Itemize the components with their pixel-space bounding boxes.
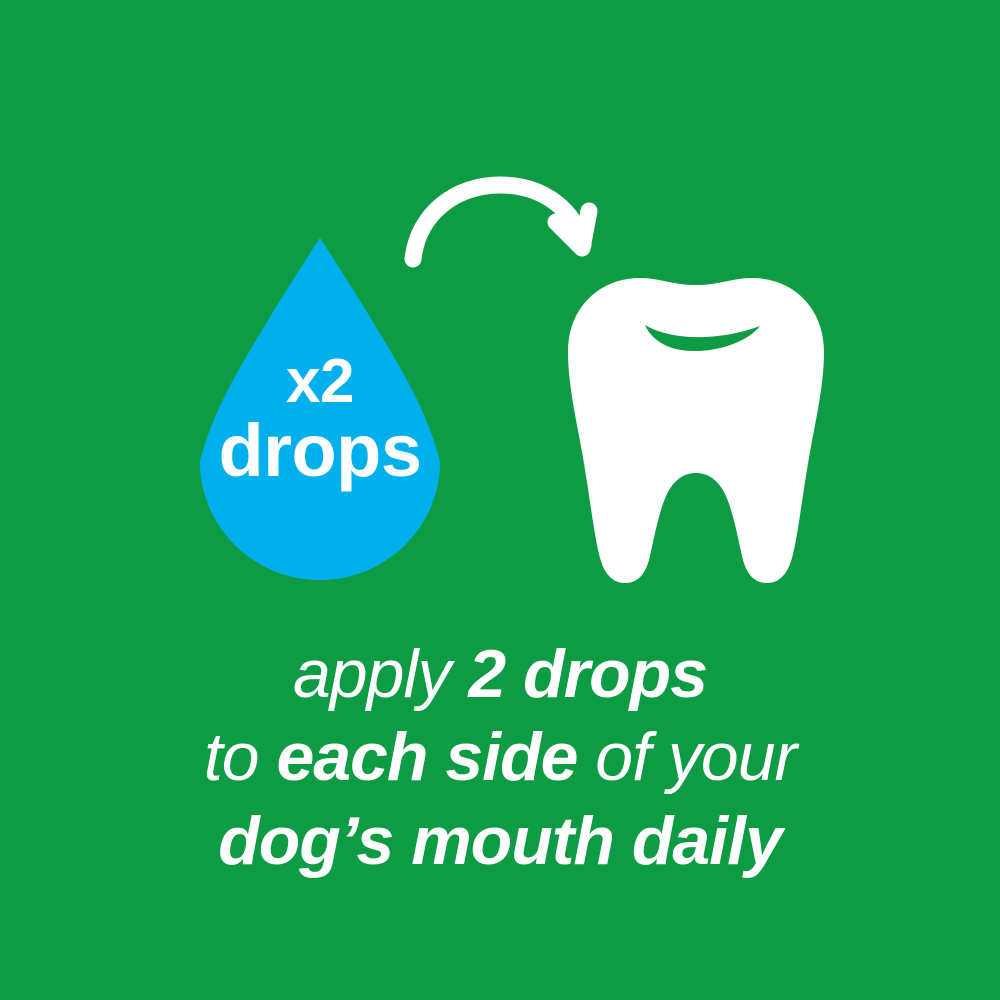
caption-line-3-bold: dog’s mouth daily bbox=[218, 803, 782, 879]
caption-line-1-regular: apply bbox=[293, 636, 468, 712]
caption-block: apply 2 drops to each side of your dog’s… bbox=[0, 640, 1000, 876]
icon-stage bbox=[0, 0, 1000, 620]
tooth-icon bbox=[568, 278, 824, 583]
caption-line-1: apply 2 drops bbox=[0, 640, 1000, 709]
water-drop-icon bbox=[200, 238, 440, 580]
caption-line-2-regular-b: of your bbox=[577, 719, 796, 795]
caption-line-2-bold: each side bbox=[276, 719, 577, 795]
instruction-graphic-canvas: x2 drops apply 2 drops to each side of y… bbox=[0, 0, 1000, 1000]
caption-line-2: to each side of your bbox=[0, 723, 1000, 792]
caption-line-2-regular-a: to bbox=[204, 719, 277, 795]
caption-line-3: dog’s mouth daily bbox=[0, 807, 1000, 876]
caption-line-1-bold: 2 drops bbox=[468, 636, 707, 712]
